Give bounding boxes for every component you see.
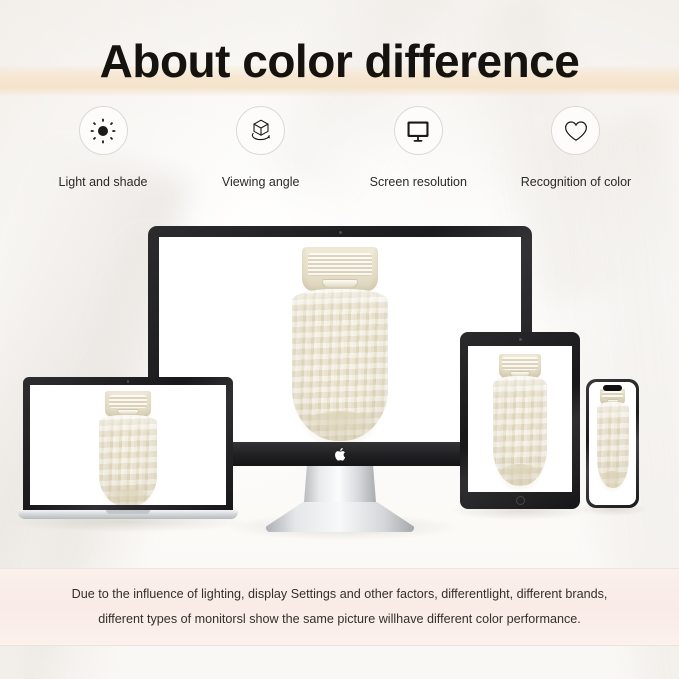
product-image-hair-extensions — [589, 382, 636, 505]
product-image-hair-extensions — [30, 385, 226, 505]
color-disclaimer-banner: Due to the influence of lighting, displa… — [0, 568, 679, 646]
laptop-trackpad-notch — [106, 510, 150, 514]
device-mockup-group — [0, 214, 679, 534]
apple-logo — [334, 447, 347, 462]
feature-item-viewing-angle: Viewing angle — [186, 106, 336, 190]
disclaimer-line-1: Due to the influence of lighting, displa… — [72, 587, 608, 601]
monitor-stand-neck — [304, 466, 376, 502]
laptop — [18, 377, 238, 519]
heart-outline-icon — [551, 106, 600, 155]
laptop-lid — [23, 377, 233, 510]
smartphone — [586, 379, 639, 508]
feature-label: Light and shade — [59, 174, 148, 190]
laptop-screen — [30, 385, 226, 505]
promo-banner: About color difference — [0, 0, 679, 679]
color-disclaimer-text: Due to the influence of lighting, displa… — [72, 582, 608, 632]
phone-screen — [589, 382, 636, 505]
feature-item-screen-resolution: Screen resolution — [343, 106, 493, 190]
tablet — [460, 332, 580, 509]
camera-icon — [519, 338, 522, 341]
home-button-icon[interactable] — [516, 496, 525, 505]
product-image-hair-extensions — [468, 346, 572, 492]
feature-label: Screen resolution — [370, 174, 467, 190]
rotating-cube-icon — [236, 106, 285, 155]
disclaimer-line-2: different types of monitorsl show the sa… — [98, 612, 581, 626]
feature-item-light-and-shade: Light and shade — [28, 106, 178, 190]
feature-list: Light and shade Viewing angle — [0, 106, 679, 190]
feature-item-recognition-of-color: Recognition of color — [501, 106, 651, 190]
dynamic-island-icon — [603, 385, 622, 391]
feature-label: Recognition of color — [521, 174, 631, 190]
camera-icon — [339, 231, 342, 234]
feature-label: Viewing angle — [222, 174, 300, 190]
laptop-base — [18, 510, 238, 519]
sun-brightness-icon — [79, 106, 128, 155]
monitor-stand-base — [266, 502, 414, 532]
page-title: About color difference — [0, 32, 679, 90]
tablet-screen — [468, 346, 572, 492]
camera-icon — [127, 380, 130, 383]
monitor-icon — [394, 106, 443, 155]
